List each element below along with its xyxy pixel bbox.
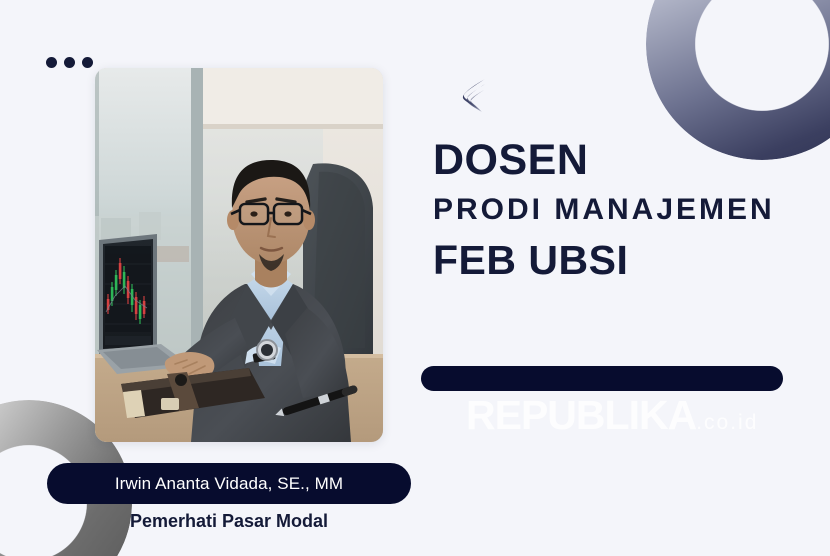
speaker-name-pill: Irwin Ananta Vidada, SE., MM bbox=[47, 463, 411, 504]
headline-line-3: FEB UBSI bbox=[433, 239, 813, 282]
dot-icon bbox=[82, 57, 93, 68]
ring-decoration-top-right bbox=[646, 0, 830, 160]
headline-line-1: DOSEN bbox=[433, 138, 813, 183]
watermark-suffix: .co.id bbox=[696, 411, 758, 434]
speaker-role: Pemerhati Pasar Modal bbox=[47, 511, 411, 532]
speaker-photo bbox=[95, 68, 383, 442]
poster-canvas: DOSEN PRODI MANAJEMEN FEB UBSI REPUBLIKA… bbox=[0, 0, 830, 556]
dot-cluster-top-left bbox=[46, 57, 93, 68]
speaker-name: Irwin Ananta Vidada, SE., MM bbox=[115, 474, 343, 494]
headline-line-2: PRODI MANAJEMEN bbox=[433, 190, 813, 229]
dot-icon bbox=[64, 57, 75, 68]
dot-icon bbox=[46, 57, 57, 68]
watermark: REPUBLIKA.co.id bbox=[466, 392, 758, 439]
swoosh-icon bbox=[455, 74, 499, 118]
accent-bar bbox=[421, 366, 783, 391]
headline-block: DOSEN PRODI MANAJEMEN FEB UBSI bbox=[433, 138, 813, 282]
watermark-brand: REPUBLIKA bbox=[466, 392, 696, 438]
